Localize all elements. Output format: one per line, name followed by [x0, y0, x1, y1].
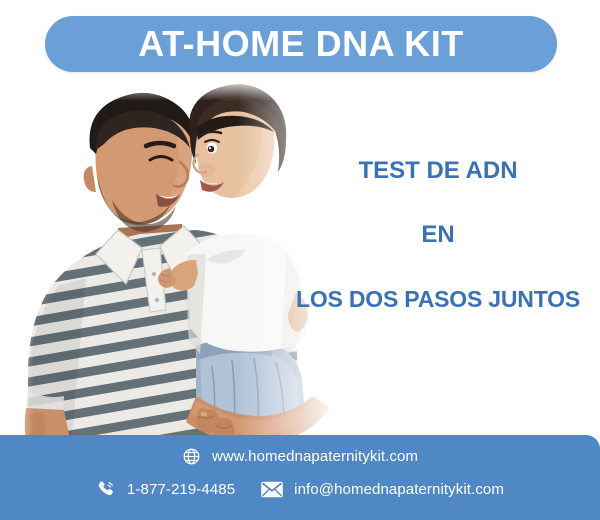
at-home-dna-kit-banner: AT-HOME DNA KIT [0, 0, 600, 520]
footer-contact-bar: www.homednapaternitykit.com 1-877-219-44… [0, 435, 600, 520]
headline-line-2: EN [288, 222, 588, 248]
email-contact-item[interactable]: info@homednapaternitykit.com [261, 481, 504, 498]
headline-block: TEST DE ADN EN LOS DOS PASOS JUNTOS [288, 158, 588, 312]
website-contact-item[interactable]: www.homednapaternitykit.com [182, 447, 418, 466]
page-title: AT-HOME DNA KIT [138, 26, 463, 62]
phone-icon [96, 479, 116, 499]
globe-icon [182, 447, 201, 466]
envelope-icon [261, 481, 283, 498]
email-label: info@homednapaternitykit.com [294, 481, 504, 498]
header-pill: AT-HOME DNA KIT [45, 16, 557, 72]
footer-phone-email-row: 1-877-219-4485 info@homednapaternitykit.… [0, 479, 600, 499]
phone-contact-item[interactable]: 1-877-219-4485 [96, 479, 235, 499]
headline-line-3: LOS DOS PASOS JUNTOS [288, 287, 588, 312]
phone-label: 1-877-219-4485 [127, 481, 235, 498]
website-label: www.homednapaternitykit.com [212, 448, 418, 465]
footer-website-row: www.homednapaternitykit.com [0, 447, 600, 466]
headline-line-1: TEST DE ADN [288, 158, 588, 184]
